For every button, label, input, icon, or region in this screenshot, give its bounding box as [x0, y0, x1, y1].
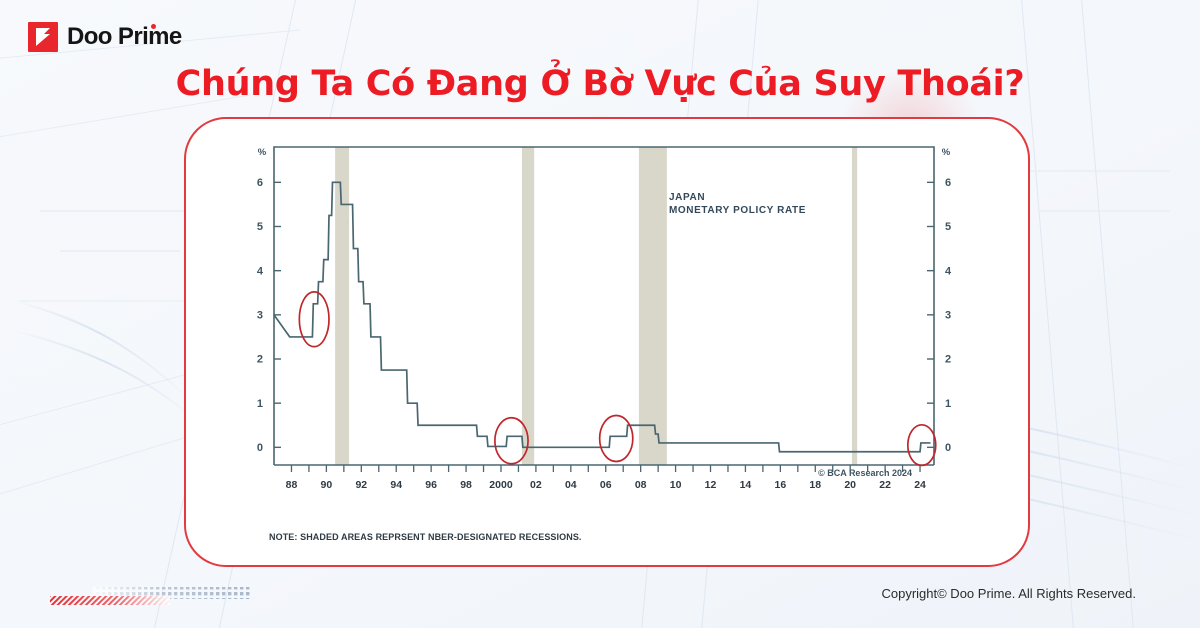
y-tick-label-right: 1: [945, 398, 951, 410]
x-tick-label: 12: [705, 479, 717, 491]
annotation-ellipse: [908, 425, 936, 466]
y-tick-label-left: 2: [257, 354, 263, 366]
doo-prime-logo-icon: [28, 22, 58, 52]
x-tick-label: 16: [775, 479, 787, 491]
x-tick-label: 94: [390, 479, 402, 491]
recession-band: [522, 147, 534, 465]
x-tick-label: 22: [879, 479, 891, 491]
y-tick-label-right: 4: [945, 265, 952, 277]
y-tick-label-left: 4: [257, 265, 264, 277]
chart-card: 0011223344556688909294969820000204060810…: [184, 117, 1030, 567]
brand-header: Doo Prime: [28, 22, 182, 52]
x-tick-label: 98: [460, 479, 472, 491]
y-tick-label-left: 6: [257, 177, 263, 189]
y-axis-unit-left: %: [258, 147, 267, 158]
x-tick-label: 20: [844, 479, 856, 491]
x-tick-label: 08: [635, 479, 647, 491]
y-tick-label-left: 0: [257, 442, 263, 454]
y-tick-label-left: 5: [257, 221, 263, 233]
japan-policy-rate-chart: 0011223344556688909294969820000204060810…: [186, 119, 1028, 565]
x-tick-label: 06: [600, 479, 612, 491]
x-tick-label: 24: [914, 479, 926, 491]
brand-name-text: Doo Prime: [67, 23, 182, 50]
y-tick-label-left: 1: [257, 398, 263, 410]
chart-series-title: JAPAN: [669, 192, 705, 203]
policy-rate-line: [274, 182, 931, 451]
footer-copyright: Copyright© Doo Prime. All Rights Reserve…: [881, 586, 1136, 601]
y-tick-label-right: 0: [945, 442, 951, 454]
y-axis-unit-right: %: [942, 147, 951, 158]
chart-source: © BCA Research 2024: [818, 468, 912, 478]
y-tick-label-right: 5: [945, 221, 951, 233]
x-tick-label: 10: [670, 479, 682, 491]
axis-frame: [274, 147, 934, 465]
x-tick-label: 04: [565, 479, 577, 491]
x-tick-label: 88: [286, 479, 298, 491]
x-tick-label: 02: [530, 479, 542, 491]
recession-band: [639, 147, 667, 465]
y-tick-label-left: 3: [257, 309, 263, 321]
chart-series-subtitle: MONETARY POLICY RATE: [669, 205, 806, 216]
x-tick-label: 2000: [489, 479, 513, 491]
x-tick-label: 92: [355, 479, 367, 491]
recession-band: [335, 147, 349, 465]
logo-accent-dot-icon: [151, 24, 156, 29]
x-tick-label: 14: [740, 479, 752, 491]
y-tick-label-right: 6: [945, 177, 951, 189]
y-tick-label-right: 2: [945, 354, 951, 366]
x-tick-label: 96: [425, 479, 437, 491]
chart-note: NOTE: SHADED AREAS REPRSENT NBER-DESIGNA…: [269, 532, 582, 542]
x-tick-label: 18: [809, 479, 821, 491]
x-tick-label: 90: [321, 479, 333, 491]
recession-band: [852, 147, 857, 465]
decorative-pattern: [30, 586, 280, 612]
y-tick-label-right: 3: [945, 309, 951, 321]
page-title: Chúng Ta Có Đang Ở Bờ Vực Của Suy Thoái?: [0, 64, 1200, 104]
brand-name: Doo Prime: [67, 25, 182, 49]
annotation-ellipse: [299, 292, 329, 347]
annotation-ellipse: [600, 416, 633, 462]
